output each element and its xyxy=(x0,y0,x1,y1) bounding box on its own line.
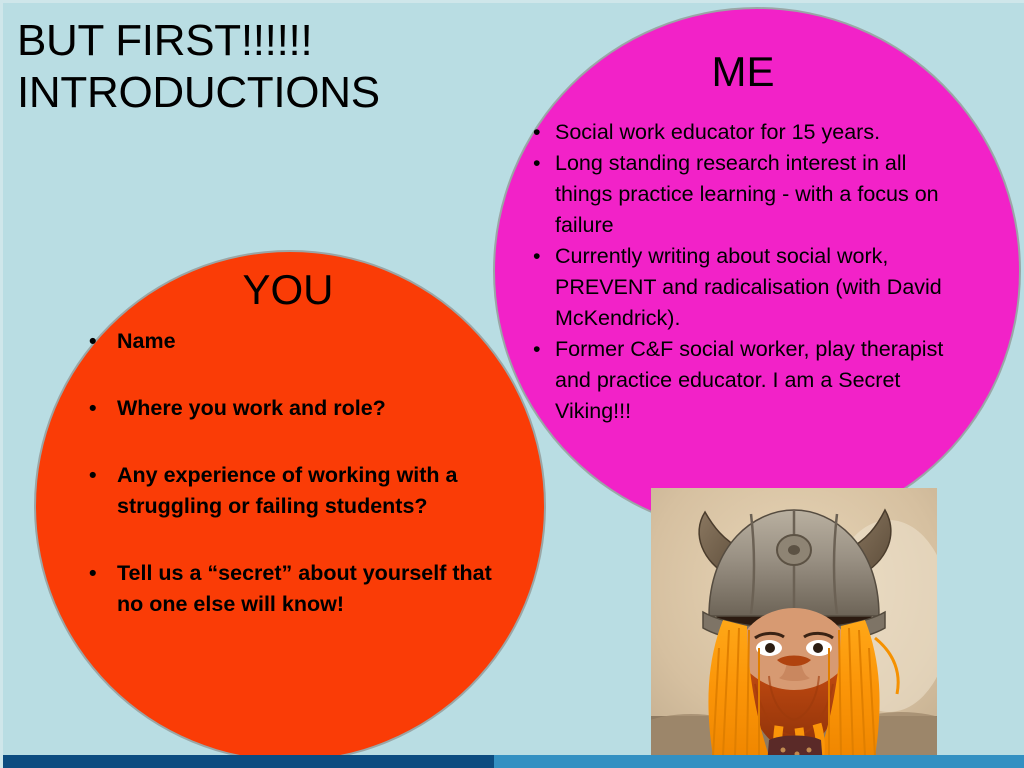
bullet-icon: • xyxy=(533,117,541,148)
you-heading: YOU xyxy=(153,268,423,312)
slide-canvas: BUT FIRST!!!!!! INTRODUCTIONS ME • Socia… xyxy=(0,0,1024,768)
list-item: • Social work educator for 15 years. xyxy=(523,117,963,148)
bottom-bar-right-segment xyxy=(494,755,1024,768)
me-bullet-list: • Social work educator for 15 years. • L… xyxy=(523,117,963,427)
page-title-line-1: BUT FIRST!!!!!! xyxy=(17,15,487,67)
list-item-text: Name xyxy=(117,329,176,353)
you-bullet-list: • Name • Where you work and role? • Any … xyxy=(75,326,505,620)
list-item: • Former C&F social worker, play therapi… xyxy=(523,334,963,427)
bottom-bar-left-segment xyxy=(3,755,494,768)
list-item: • Long standing research interest in all… xyxy=(523,148,963,241)
list-item-text: Any experience of working with a struggl… xyxy=(117,463,458,518)
list-item-text: Where you work and role? xyxy=(117,396,386,420)
list-item: • Name xyxy=(75,326,505,357)
me-heading: ME xyxy=(603,50,883,94)
list-item: • Tell us a “secret” about yourself that… xyxy=(75,558,505,620)
viking-portrait-photo xyxy=(651,488,937,765)
bullet-icon: • xyxy=(533,148,541,179)
list-item-text: Former C&F social worker, play therapist… xyxy=(555,337,943,423)
list-item: • Any experience of working with a strug… xyxy=(75,460,505,522)
page-title: BUT FIRST!!!!!! INTRODUCTIONS xyxy=(17,15,487,119)
viking-portrait-illustration xyxy=(651,488,937,765)
bullet-icon: • xyxy=(89,558,97,589)
list-item-text: Tell us a “secret” about yourself that n… xyxy=(117,561,492,616)
bullet-icon: • xyxy=(89,326,97,357)
bullet-icon: • xyxy=(89,393,97,424)
list-item-text: Long standing research interest in all t… xyxy=(555,151,939,237)
list-item: • Currently writing about social work, P… xyxy=(523,241,963,334)
list-item: • Where you work and role? xyxy=(75,393,505,424)
bullet-icon: • xyxy=(533,241,541,272)
bullet-icon: • xyxy=(89,460,97,491)
page-title-line-2: INTRODUCTIONS xyxy=(17,67,487,119)
list-item-text: Currently writing about social work, PRE… xyxy=(555,244,942,330)
bullet-icon: • xyxy=(533,334,541,365)
bottom-accent-bar xyxy=(3,755,1024,768)
list-item-text: Social work educator for 15 years. xyxy=(555,120,880,144)
